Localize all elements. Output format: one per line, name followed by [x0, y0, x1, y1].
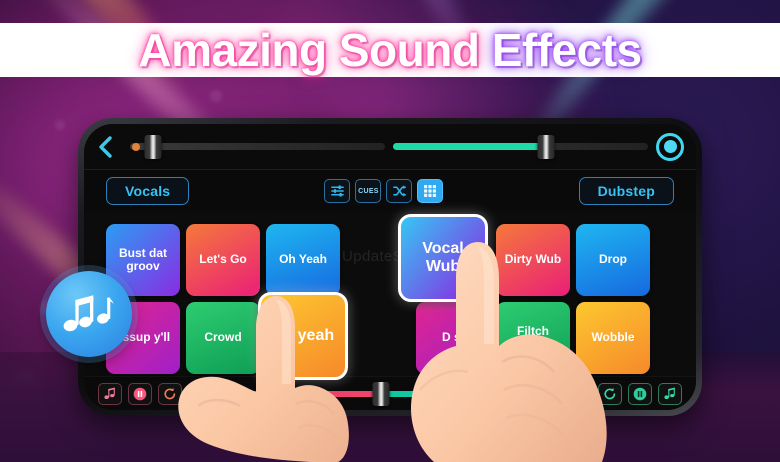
loop-button[interactable]	[158, 383, 182, 405]
pad-button[interactable]: Drop	[576, 224, 650, 296]
crossfader-left-fill	[188, 391, 381, 397]
shuffle-button[interactable]	[386, 179, 412, 203]
pad-button-active[interactable]: Ah yeah	[258, 292, 348, 380]
pause-button[interactable]	[628, 383, 652, 405]
bokeh-dot	[55, 120, 65, 130]
pad-button[interactable]: Crowd	[186, 302, 260, 374]
cues-button[interactable]: CUES	[355, 179, 381, 203]
pad-button[interactable]: Let's Go	[186, 224, 260, 296]
vocals-bank-button[interactable]: Vocals	[106, 177, 189, 205]
deck-badge: B	[581, 386, 590, 401]
refresh-icon	[163, 387, 177, 401]
crossfader-handle[interactable]	[373, 382, 390, 406]
top-toolbar	[84, 124, 696, 170]
shuffle-icon	[392, 184, 407, 198]
bokeh-dot	[210, 90, 222, 102]
phone-frame: Vocals CUES	[78, 118, 702, 416]
slider-handle[interactable]	[144, 135, 161, 159]
page-title-part1: Amazing Sound	[138, 24, 491, 76]
equalizer-icon	[330, 184, 345, 198]
pad-button[interactable]: Oh Yeah	[266, 224, 340, 296]
bank-toolbar: Vocals CUES	[84, 170, 696, 212]
deck-a-volume-slider[interactable]	[130, 143, 385, 150]
music-note-icon	[664, 387, 676, 400]
crossfader-right-fill	[381, 391, 574, 397]
music-notes-icon	[63, 289, 115, 339]
deck-b-volume-slider[interactable]	[393, 143, 648, 150]
crossfader-track	[188, 391, 575, 397]
app-icon	[46, 271, 132, 357]
slider-fill	[393, 143, 546, 150]
pad-button[interactable]: Filtch Wobble	[496, 302, 570, 374]
pause-button[interactable]	[128, 383, 152, 405]
music-note-button[interactable]	[98, 383, 122, 405]
pad-button[interactable]: Wobble	[576, 302, 650, 374]
page-title-part2: Effects	[492, 24, 642, 76]
bottom-toolbar: B	[84, 376, 696, 410]
app-screen: Vocals CUES	[84, 124, 696, 410]
slider-origin-dot	[132, 143, 140, 151]
grid-button[interactable]	[417, 179, 443, 203]
tool-button-group: CUES	[324, 179, 443, 203]
crossfader-slider[interactable]	[188, 377, 575, 410]
pad-area: UpdateStar.com Bust dat groov Let's Go O…	[84, 212, 696, 376]
music-note-button[interactable]	[658, 383, 682, 405]
record-button[interactable]	[656, 133, 684, 161]
loop-button[interactable]	[598, 383, 622, 405]
cues-label: CUES	[358, 188, 379, 195]
pause-icon	[133, 387, 147, 401]
refresh-icon	[603, 387, 617, 401]
slider-handle[interactable]	[538, 135, 555, 159]
pause-icon	[633, 387, 647, 401]
pad-grid: Bust dat groov Let's Go Oh Yeah assup y'…	[106, 216, 674, 376]
music-note-icon	[104, 387, 116, 400]
equalizer-button[interactable]	[324, 179, 350, 203]
pad-button-active[interactable]: Vocal Wub	[398, 214, 488, 302]
pad-button[interactable]: Dirty Wub	[496, 224, 570, 296]
record-dot-icon	[664, 140, 677, 153]
grid-icon	[423, 184, 437, 198]
back-button[interactable]	[92, 134, 118, 160]
page-title: Amazing Sound Effects	[0, 23, 780, 77]
chevron-left-icon	[97, 135, 114, 159]
pad-button[interactable]: D si	[416, 302, 490, 374]
dubstep-bank-button[interactable]: Dubstep	[579, 177, 674, 205]
